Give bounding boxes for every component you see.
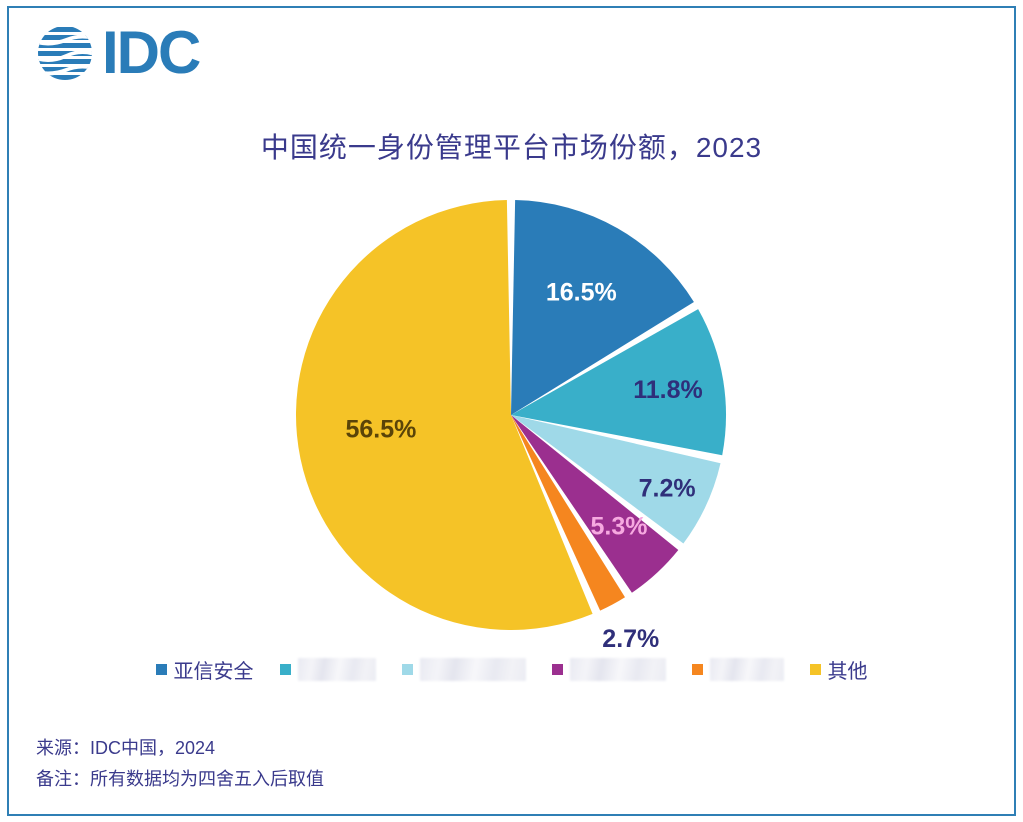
legend-item[interactable] [402, 658, 526, 681]
legend-item[interactable] [280, 658, 376, 681]
slide-canvas: IDC 中国统一身份管理平台市场份额，2023 16.5%11.8%7.2%5.… [0, 0, 1023, 822]
idc-logo: IDC [34, 22, 199, 84]
legend-label [420, 658, 526, 681]
footer-note: 备注：所有数据均为四舍五入后取值 [36, 764, 324, 795]
legend-swatch-icon [552, 664, 563, 675]
legend-item[interactable]: 其他 [810, 655, 868, 684]
legend-item[interactable]: 亚信安全 [156, 655, 254, 684]
legend-swatch-icon [402, 664, 413, 675]
logo-wordmark: IDC [102, 23, 199, 83]
legend-item[interactable] [552, 658, 666, 681]
chart-title: 中国统一身份管理平台市场份额，2023 [0, 126, 1023, 166]
legend-item[interactable] [692, 658, 784, 681]
chart-footer: 来源：IDC中国，2024 备注：所有数据均为四舍五入后取值 [36, 733, 324, 795]
chart-legend: 亚信安全其他 [0, 655, 1023, 684]
legend-label: 其他 [828, 655, 868, 684]
legend-swatch-icon [810, 664, 821, 675]
legend-label [298, 658, 376, 681]
legend-label [710, 658, 784, 681]
legend-swatch-icon [156, 664, 167, 675]
legend-label [570, 658, 666, 681]
footer-source: 来源：IDC中国，2024 [36, 733, 324, 764]
globe-icon [34, 22, 96, 84]
legend-label: 亚信安全 [174, 655, 254, 684]
legend-swatch-icon [692, 664, 703, 675]
legend-swatch-icon [280, 664, 291, 675]
